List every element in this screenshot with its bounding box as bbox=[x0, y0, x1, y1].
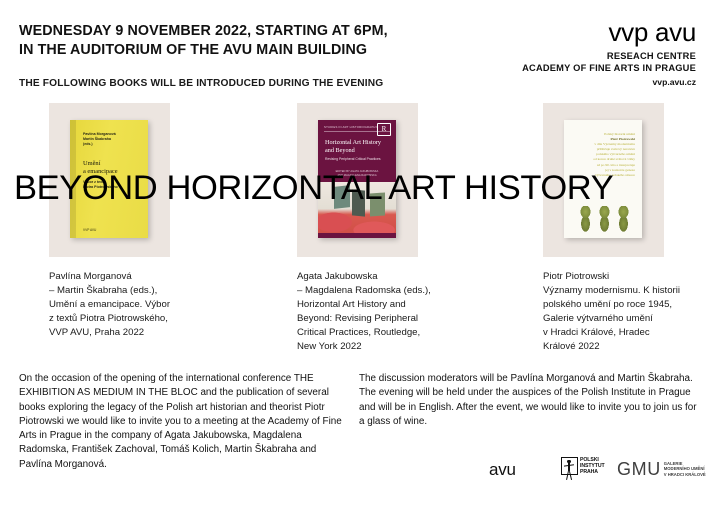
gmu-logo: GMU GALERIE MODERNÍHO UMĚNÍ V HRADCI KRÁ… bbox=[617, 459, 706, 479]
cover-figure-2 bbox=[597, 206, 612, 232]
gmu-subtitle: GALERIE MODERNÍHO UMĚNÍ V HRADCI KRÁLOVÉ bbox=[664, 461, 706, 476]
page-title: BEYOND HORIZONTAL ART HISTORY bbox=[14, 168, 704, 208]
book-caption-3: Piotr Piotrowski Významy modernismu. K h… bbox=[543, 270, 714, 354]
cover-subtitle: Revising Peripheral Critical Practices bbox=[325, 157, 389, 162]
gmu-mark: GMU bbox=[617, 459, 661, 479]
cover-figure-1 bbox=[578, 206, 593, 232]
figure-leg-right bbox=[569, 471, 572, 480]
body-paragraph-right: The discussion moderators will be Pavlín… bbox=[359, 372, 699, 429]
cover-editors: Pavlína Morganová Martin Škabraha (eds.) bbox=[83, 132, 140, 147]
book-caption-2: Agata Jakubowska – Magdalena Radomska (e… bbox=[297, 270, 487, 354]
cover-title: Horizontal Art History and Beyond bbox=[325, 139, 389, 154]
cover-figure-3 bbox=[616, 206, 631, 232]
brand-block: vvp avu RESEACH CENTRE ACADEMY OF FINE A… bbox=[396, 18, 696, 88]
cover-series-label: Polský historik umění bbox=[604, 132, 635, 136]
routledge-logo-icon: R bbox=[377, 123, 391, 136]
cover-bottom-band bbox=[318, 233, 396, 238]
vvp-avu-logo: vvp avu bbox=[396, 18, 696, 46]
avu-logo: avu bbox=[489, 460, 516, 480]
brand-website-url[interactable]: vvp.avu.cz bbox=[396, 77, 696, 88]
event-date-line-1: WEDNESDAY 9 NOVEMBER 2022, STARTING AT 6… bbox=[19, 23, 388, 39]
stick-figure-icon bbox=[565, 460, 573, 480]
polish-institute-logo: Polski Instytut Praha bbox=[561, 456, 609, 484]
book-caption-1: Pavlína Morganová – Martin Škabraha (eds… bbox=[49, 270, 229, 340]
polish-institute-label: Polski Instytut Praha bbox=[580, 457, 605, 476]
books-intro-line: THE FOLLOWING BOOKS WILL BE INTRODUCED D… bbox=[19, 77, 383, 90]
poster-canvas: WEDNESDAY 9 NOVEMBER 2022, STARTING AT 6… bbox=[0, 0, 714, 506]
cover-author: Piotr Piotrowski bbox=[611, 137, 635, 141]
footer-logos: avu Polski Instytut Praha GMU GALERIE MO… bbox=[0, 456, 714, 490]
brand-subtitle: RESEACH CENTRE ACADEMY OF FINE ARTS IN P… bbox=[396, 50, 696, 75]
cover-publisher: VVP AVU bbox=[83, 228, 96, 232]
